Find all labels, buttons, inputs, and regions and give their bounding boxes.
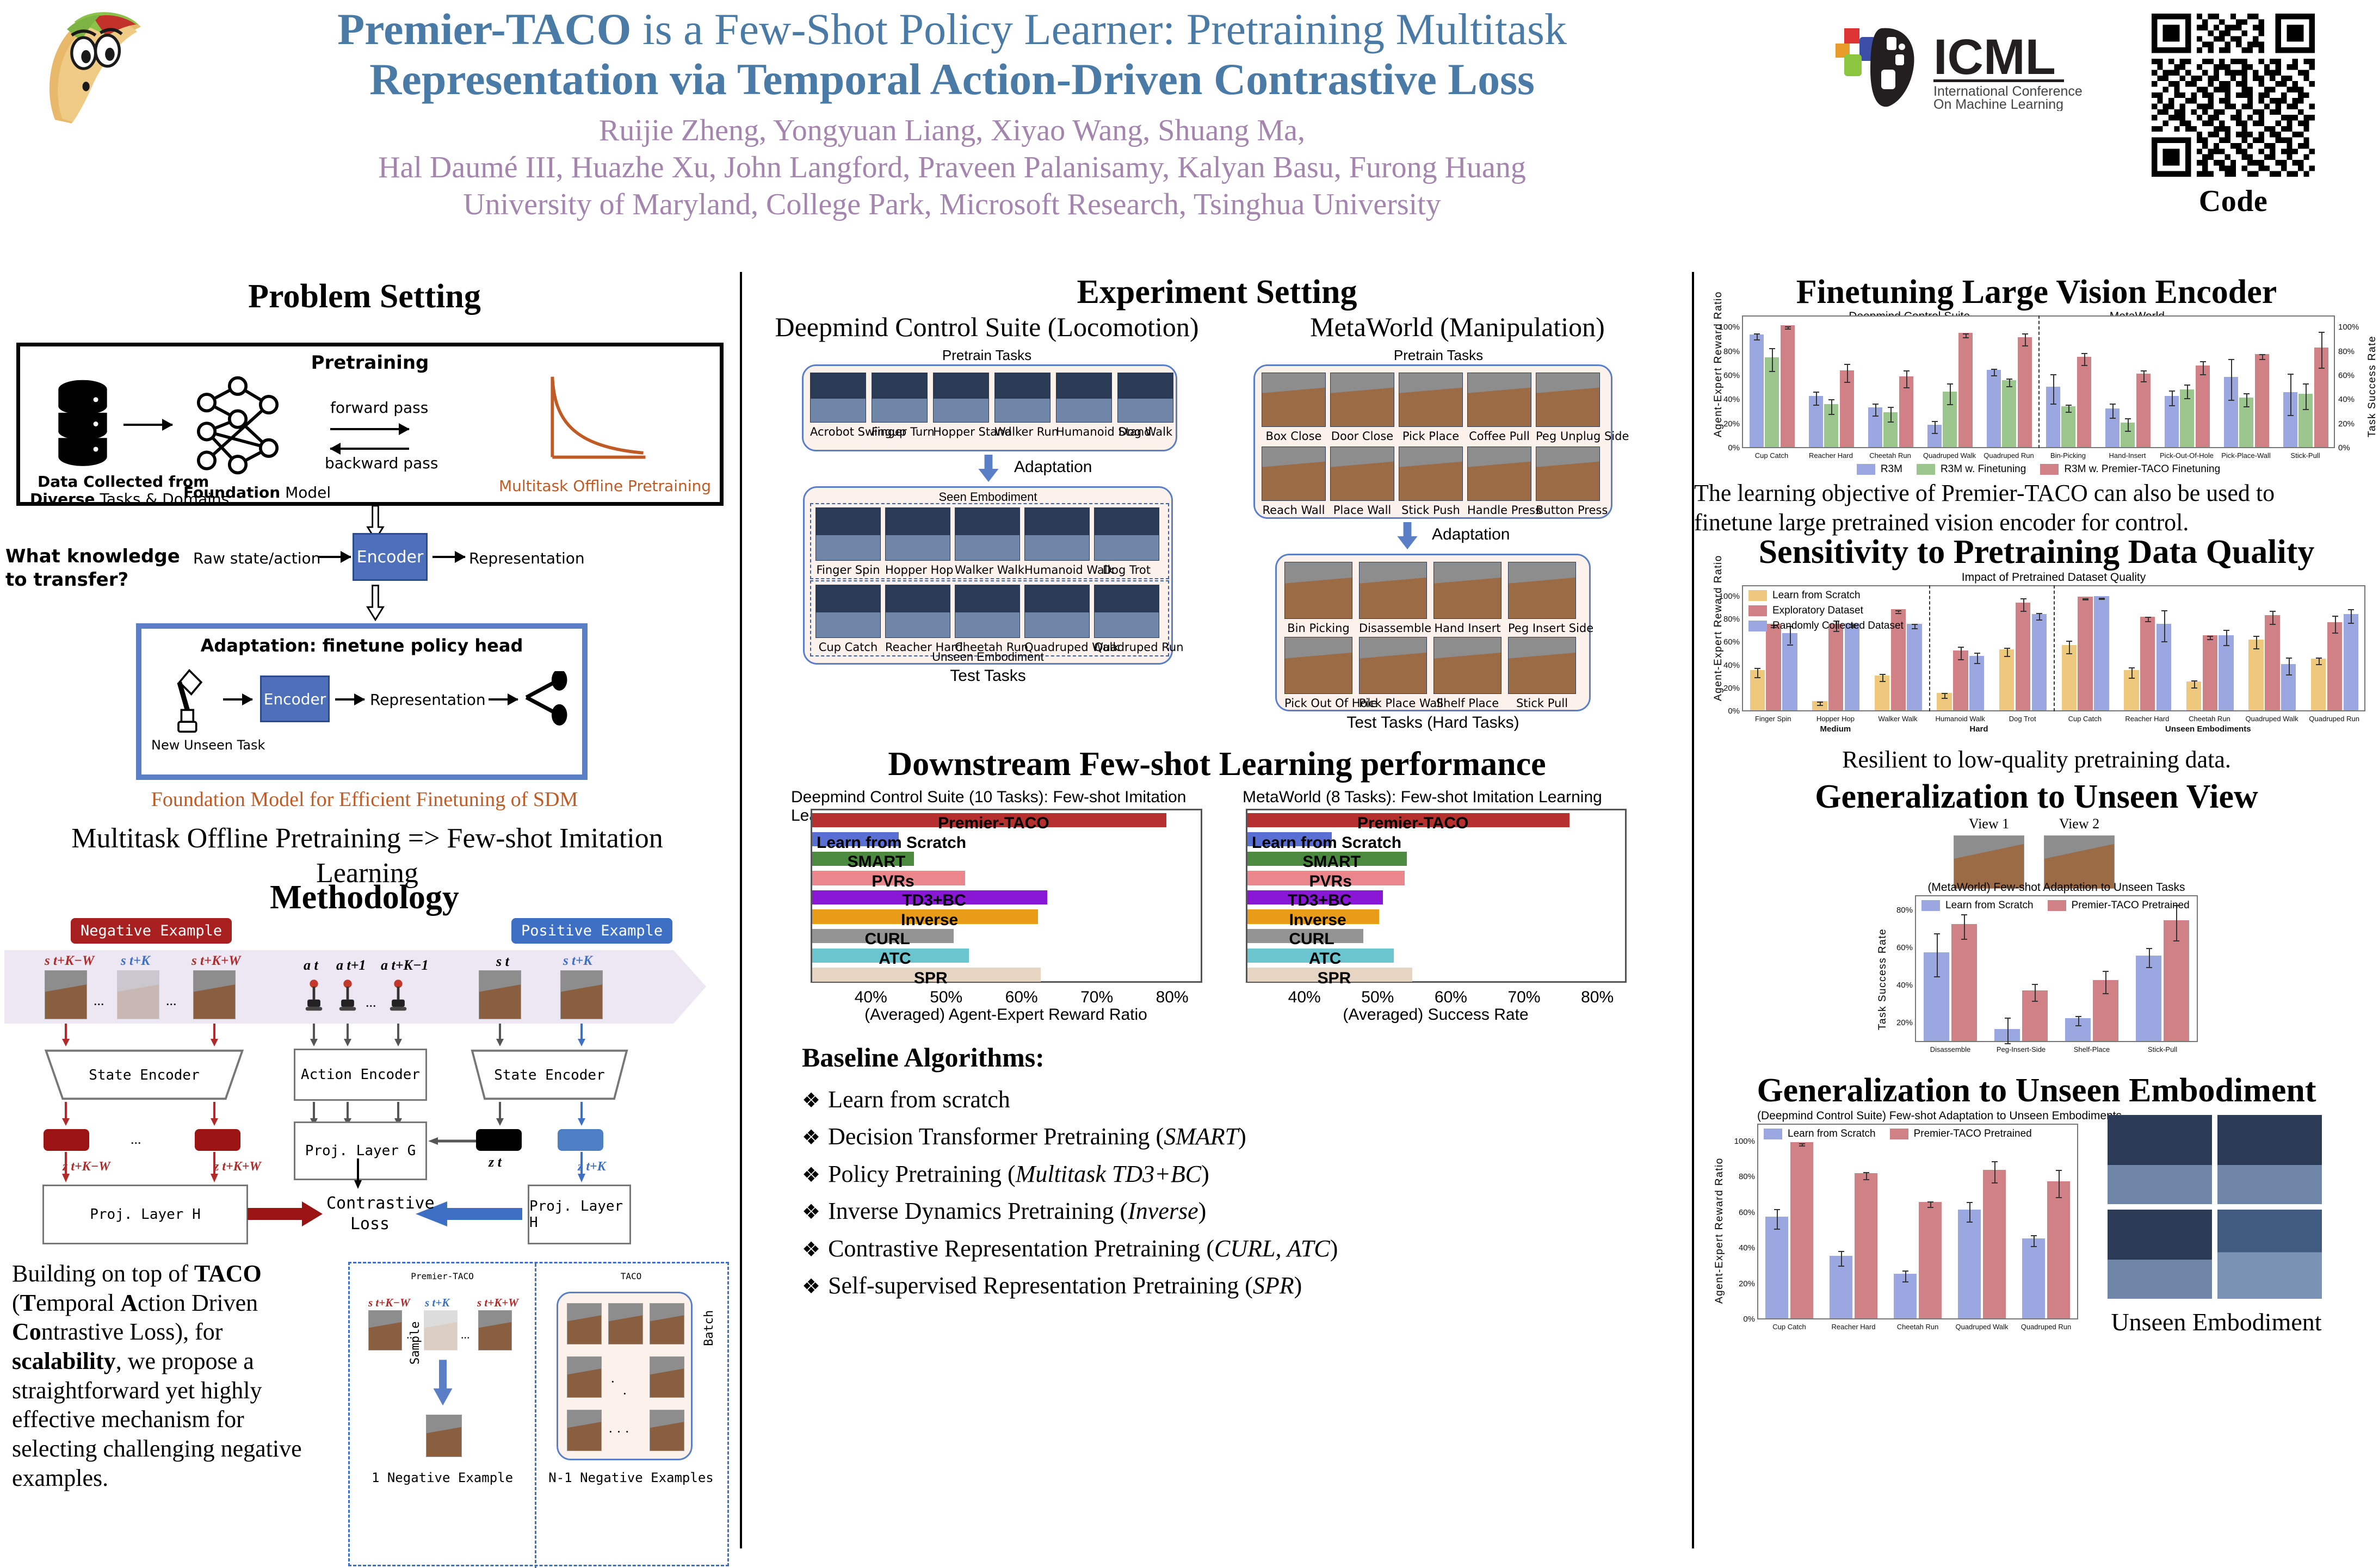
error-bar-cap bbox=[2004, 656, 2010, 657]
error-bar-cap bbox=[2129, 667, 2135, 668]
foundation-model-note: Foundation Model for Efficient Finetunin… bbox=[0, 788, 729, 811]
error-bar bbox=[1890, 407, 1892, 422]
task-tile-label: Acrobot Swingup bbox=[810, 425, 866, 438]
legend-swatch bbox=[2048, 900, 2066, 911]
bar bbox=[2022, 1238, 2045, 1318]
bar bbox=[2203, 635, 2217, 710]
baseline-list-item: ❖Contrastive Representation Pretraining … bbox=[802, 1232, 1672, 1266]
bar bbox=[1907, 624, 1921, 710]
error-bar-cap bbox=[1947, 404, 1953, 405]
chart-legend: Learn from ScratchExploratory DatasetRan… bbox=[1748, 590, 1904, 632]
bar-label: ATC bbox=[1252, 950, 1398, 968]
error-bar-cap bbox=[1958, 647, 1964, 648]
representation-label-bottom: Representation bbox=[370, 691, 486, 709]
error-bar bbox=[2023, 598, 2024, 611]
error-bar bbox=[1847, 364, 1848, 382]
legend-swatch bbox=[1748, 605, 1767, 616]
task-tile: Disassemble bbox=[1359, 562, 1427, 635]
x-axis-tick: Cup Catch bbox=[1742, 451, 1801, 460]
task-thumbnail bbox=[1399, 447, 1463, 501]
bar bbox=[2032, 614, 2047, 710]
bar bbox=[2018, 337, 2032, 447]
sampled-negative-thumb bbox=[426, 1415, 462, 1457]
unseen-embodiment-label: Unseen Embodiment bbox=[805, 650, 1171, 664]
mw-adaptation-arrow bbox=[1395, 522, 1420, 550]
task-tile-label: Hopper Stand bbox=[933, 425, 989, 438]
error-bar-cap bbox=[2020, 611, 2026, 612]
y-axis-tick: 60% bbox=[1732, 1208, 1755, 1217]
error-bar-cap bbox=[1912, 628, 1918, 629]
error-bar-cap bbox=[2125, 431, 2131, 432]
task-thumbnail bbox=[810, 373, 866, 423]
poster-header: Premier-TACO is a Few-Shot Policy Learne… bbox=[0, 0, 2379, 272]
baseline-algorithms-block: Baseline Algorithms: ❖Learn from scratch… bbox=[802, 1042, 1672, 1306]
task-thumbnail bbox=[1467, 373, 1531, 427]
error-bar-cap bbox=[1838, 1251, 1844, 1252]
task-tile-label: Pick Out Of Hole bbox=[1284, 697, 1352, 710]
compare-divider bbox=[535, 1263, 536, 1568]
task-tile-label: Place Wall bbox=[1330, 504, 1394, 517]
method-comparison-panel: Premier-TACO TACO s t+K−W ... s t+K ... … bbox=[348, 1262, 729, 1566]
diamond-bullet-icon: ❖ bbox=[802, 1126, 820, 1149]
bar bbox=[1919, 1202, 1942, 1318]
error-bar-cap bbox=[1904, 387, 1910, 388]
task-thumbnail bbox=[1433, 562, 1501, 619]
legend-label: R3M bbox=[1881, 463, 1902, 475]
error-bar-cap bbox=[1828, 399, 1834, 400]
bar-label: SMART bbox=[817, 853, 936, 871]
task-to-encoder-arrow bbox=[223, 698, 252, 701]
error-bar-cap bbox=[1817, 705, 1823, 706]
task-tile: Pick Out Of Hole bbox=[1284, 637, 1352, 710]
task-tile: Door Close bbox=[1330, 373, 1394, 443]
task-tile: Handle Press bbox=[1467, 447, 1531, 517]
error-bar-cap bbox=[2081, 353, 2087, 354]
error-bar-cap bbox=[1799, 1145, 1805, 1146]
error-bar bbox=[2059, 1170, 2060, 1197]
legend-swatch bbox=[1764, 1129, 1782, 1139]
x-axis-tick: Dog Trot bbox=[1991, 715, 2054, 723]
action-label-tk1: a t+K−1 bbox=[381, 957, 429, 974]
negative-example-tag: Negative Example bbox=[71, 918, 232, 944]
x-axis-tick: Pick-Place-Wall bbox=[2216, 451, 2276, 460]
y-axis-tick: 40% bbox=[1890, 981, 1913, 990]
bar-label: Premier-TACO bbox=[817, 814, 1171, 833]
x-axis-tick: Quadruped Walk bbox=[1920, 451, 1979, 460]
x-axis-tick: 40% bbox=[1284, 988, 1325, 1007]
x-axis-tick: 50% bbox=[1357, 988, 1398, 1007]
error-bar bbox=[2053, 374, 2054, 403]
bar bbox=[2327, 622, 2342, 710]
dataset-quality-chart: Impact of Pretrained Dataset Quality0%20… bbox=[1704, 571, 2373, 740]
legend-item: Learn from Scratch bbox=[1748, 590, 1904, 602]
batch-thumb-5 bbox=[650, 1356, 684, 1398]
error-bar-cap bbox=[2110, 418, 2116, 419]
error-bar bbox=[1977, 653, 1978, 663]
x-axis-tick: Shelf-Place bbox=[2056, 1045, 2127, 1053]
bar-label: TD3+BC bbox=[1252, 891, 1387, 910]
error-bar-cap bbox=[2173, 940, 2179, 941]
error-bar-cap bbox=[2286, 658, 2292, 659]
x-axis-tick: Reacher Hard bbox=[2116, 715, 2179, 723]
error-bar bbox=[2143, 370, 2145, 381]
paragraph-bold-span: scalability bbox=[12, 1348, 116, 1374]
z-chip-neg-left bbox=[44, 1129, 89, 1151]
foundation-model-rest: Model bbox=[280, 484, 331, 501]
task-tile-label: Pick Place Wall bbox=[1359, 697, 1427, 710]
bar bbox=[1845, 623, 1859, 710]
encoder-to-representation-arrow bbox=[432, 556, 465, 558]
y-axis-tick: 100% bbox=[1732, 1137, 1755, 1146]
dmc-fewshot-plot-area: Premier-TACOLearn from ScratchSMARTPVRsT… bbox=[811, 809, 1202, 983]
state-encoder-right-label: State Encoder bbox=[465, 1067, 634, 1083]
task-thumbnail bbox=[1536, 373, 1600, 427]
error-bar-cap bbox=[2288, 415, 2294, 416]
x-axis-tick: Hopper Hop bbox=[1805, 715, 1867, 723]
task-tile: Acrobot Swingup bbox=[810, 373, 866, 438]
error-bar-cap bbox=[2099, 599, 2105, 600]
error-bar-cap bbox=[2056, 1197, 2062, 1198]
legend-item: Randomly Collected Dataset bbox=[1748, 620, 1904, 632]
error-bar bbox=[2128, 418, 2129, 430]
legend-item: Learn from Scratch bbox=[1764, 1128, 1876, 1140]
bar bbox=[1790, 1142, 1813, 1318]
x-axis-tick: Cup Catch bbox=[2054, 715, 2116, 723]
sample-label: Sample bbox=[409, 1322, 422, 1365]
task-tile-label: Hopper Hop bbox=[885, 563, 950, 577]
error-bar-cap bbox=[1813, 405, 1819, 406]
error-bar-cap bbox=[2348, 609, 2354, 610]
legend-item: Premier-TACO Pretrained bbox=[2048, 900, 2190, 912]
task-thumbnail bbox=[1467, 447, 1531, 501]
diamond-bullet-icon: ❖ bbox=[802, 1201, 820, 1224]
task-thumbnail bbox=[1330, 373, 1394, 427]
error-bar-cap bbox=[2022, 333, 2028, 334]
dmc-seen-tiles: Finger SpinHopper HopWalker WalkHumanoid… bbox=[815, 507, 1159, 577]
finetune-vision-title: Finetuning Large Vision Encoder bbox=[1694, 273, 2379, 312]
title-rest-part: is a Few-Shot Policy Learner: Pretrainin… bbox=[631, 4, 1566, 54]
authors-line-2: Hal Daumé III, Huazhe Xu, John Langford,… bbox=[163, 149, 1741, 186]
error-bar-cap bbox=[1769, 371, 1775, 372]
forward-pass-label: forward pass bbox=[330, 399, 428, 417]
bar bbox=[1828, 624, 1843, 710]
task-tile-label: Dog Walk bbox=[1117, 425, 1173, 438]
task-tile-label: Stick Push bbox=[1399, 504, 1463, 517]
legend-item: Exploratory Dataset bbox=[1748, 605, 1904, 617]
bar-label: PVRs bbox=[1252, 872, 1409, 891]
chart-legend: Learn from ScratchPremier-TACO Pretraine… bbox=[1764, 1128, 2032, 1140]
x-axis-tick: Bin-Picking bbox=[2038, 451, 2098, 460]
legend-label: Randomly Collected Dataset bbox=[1772, 620, 1904, 632]
error-bar-cap bbox=[1774, 1229, 1780, 1230]
error-bar-cap bbox=[2161, 610, 2167, 611]
dmc-fewshot-xlabel: (Averaged) Agent-Expert Reward Ratio bbox=[807, 1006, 1204, 1024]
x-axis-tick: 60% bbox=[1001, 988, 1042, 1007]
task-tile: Reacher Hard bbox=[885, 585, 950, 654]
task-thumbnail bbox=[815, 585, 881, 638]
error-bar-cap bbox=[1769, 348, 1775, 349]
task-tile: Pick Place Wall bbox=[1359, 637, 1427, 710]
ellipsis-2: ... bbox=[166, 993, 177, 1009]
bar-label: SMART bbox=[1252, 853, 1411, 871]
view-thumbnails: View 1 View 2 bbox=[1944, 816, 2124, 889]
error-bar bbox=[1994, 1161, 1995, 1182]
unseen-embodiment-thumbs: Unseen Embodiment bbox=[2108, 1115, 2325, 1336]
error-bar-cap bbox=[2270, 624, 2276, 625]
methodology-paragraph: Building on top of TACO (Temporal Action… bbox=[12, 1259, 328, 1492]
metaworld-title: MetaWorld (Manipulation) bbox=[1226, 311, 1689, 343]
baseline-list-item: ❖Self-supervised Representation Pretrain… bbox=[802, 1269, 1672, 1303]
y-axis-label-right: Task Success Rate bbox=[2366, 336, 2378, 437]
plot-area bbox=[1915, 895, 2198, 1042]
finetune-note-line1: The learning objective of Premier-TACO c… bbox=[1694, 479, 2379, 508]
bar bbox=[2196, 365, 2210, 447]
chart-title: (MetaWorld) Few-shot Adaptation to Unsee… bbox=[1915, 881, 2198, 894]
y-axis-tick: 20% bbox=[1890, 1018, 1913, 1027]
baseline-label: Self-supervised Representation Pretraini… bbox=[828, 1272, 1302, 1299]
bar bbox=[1983, 1170, 2006, 1318]
error-bar-cap bbox=[2075, 1016, 2081, 1017]
error-bar-cap bbox=[2184, 398, 2190, 399]
error-bar-cap bbox=[2184, 385, 2190, 386]
legend-swatch bbox=[1748, 621, 1767, 631]
sensitivity-note: Resilient to low-quality pretraining dat… bbox=[1694, 745, 2379, 774]
error-bar-cap bbox=[2066, 641, 2072, 642]
bar bbox=[2140, 617, 2155, 710]
task-tile: Quadruped Walk bbox=[1024, 585, 1090, 654]
task-tile-label: Box Close bbox=[1262, 430, 1326, 443]
legend-label: Learn from Scratch bbox=[1945, 900, 2034, 912]
task-tile: Finger Turn bbox=[872, 373, 928, 438]
database-icon bbox=[53, 379, 113, 469]
problem-setting-title: Problem Setting bbox=[0, 277, 729, 316]
loss-curve-icon bbox=[542, 373, 651, 468]
baseline-list-item: ❖Policy Pretraining (Multitask TD3+BC) bbox=[802, 1157, 1672, 1191]
y-axis-tick: 40% bbox=[1732, 1243, 1755, 1253]
bar bbox=[1855, 1173, 1877, 1318]
error-bar-cap bbox=[2032, 1001, 2038, 1002]
encoder-box-bottom[interactable]: Encoder bbox=[260, 675, 330, 722]
task-thumbnail bbox=[955, 585, 1020, 638]
bar bbox=[2016, 603, 2030, 710]
x-axis-tick: Cheetah Run bbox=[2178, 715, 2241, 723]
robot-arm-icon bbox=[168, 666, 211, 736]
task-tile-label: Humanoid Stand bbox=[1056, 425, 1112, 438]
sensitivity-title: Sensitivity to Pretraining Data Quality bbox=[1694, 533, 2379, 572]
authors-line-1: Ruijie Zheng, Yongyuan Liang, Xiyao Wang… bbox=[163, 112, 1741, 149]
compare-s-neg-right: s t+K+W bbox=[477, 1296, 518, 1310]
x-axis-tick: 40% bbox=[850, 988, 892, 1007]
error-bar-cap bbox=[2253, 648, 2259, 649]
y-axis-tick-right: 20% bbox=[2338, 419, 2361, 429]
mw-fewshot-chart-title: MetaWorld (8 Tasks): Few-shot Imitation … bbox=[1243, 788, 1602, 807]
dmc-pretrain-tiles: Acrobot SwingupFinger TurnHopper StandWa… bbox=[810, 373, 1173, 438]
state-thumb-neg-right bbox=[193, 970, 236, 1019]
projg-to-loss-arrow bbox=[353, 1158, 363, 1189]
error-bar-cap bbox=[2316, 658, 2322, 659]
paragraph-bold-span: A bbox=[120, 1290, 138, 1316]
y-axis-tick-right: 60% bbox=[2338, 371, 2361, 380]
question-line-1: What knowledge bbox=[5, 545, 180, 568]
compare-s-mid: s t+K bbox=[425, 1296, 449, 1310]
error-bar-cap bbox=[1754, 333, 1760, 334]
state-thumb-tk bbox=[560, 970, 603, 1019]
mw-pretrain-tasks-label: Pretrain Tasks bbox=[1253, 347, 1623, 364]
error-bar-cap bbox=[2288, 374, 2294, 375]
legend-swatch bbox=[1748, 590, 1767, 601]
y-axis-label: Agent-Expert Reward Ratio bbox=[1714, 1157, 1726, 1304]
task-tile: Reach Wall bbox=[1262, 447, 1326, 517]
error-bar-cap bbox=[2022, 345, 2028, 346]
y-axis-tick: 0% bbox=[1717, 706, 1740, 716]
y-axis-tick: 20% bbox=[1732, 1279, 1755, 1288]
flow-arrow-down-2 bbox=[366, 585, 385, 622]
task-thumbnail bbox=[1094, 507, 1159, 561]
poster-title-line-1: Premier-TACO is a Few-Shot Policy Learne… bbox=[163, 4, 1741, 54]
task-thumbnail bbox=[885, 585, 950, 638]
dmc-fewshot-chart: Deepmind Control Suite (10 Tasks): Few-s… bbox=[791, 791, 1221, 1025]
negative-example-tag-wrap: Negative Example bbox=[71, 918, 232, 944]
error-bar bbox=[2084, 353, 2085, 365]
x-axis-tick: Disassemble bbox=[1915, 1045, 1986, 1053]
bar-label: Learn from Scratch bbox=[817, 834, 936, 852]
error-bar-cap bbox=[2259, 359, 2265, 360]
legend-label: R3M w. Finetuning bbox=[1941, 463, 2026, 475]
error-bar-cap bbox=[1774, 1209, 1780, 1210]
task-tile-label: Humanoid Walk bbox=[1024, 563, 1090, 577]
backward-pass-label: backward pass bbox=[325, 454, 438, 472]
task-tile-label: Hand Insert bbox=[1433, 622, 1501, 635]
positive-example-tag: Positive Example bbox=[511, 918, 672, 944]
error-bar bbox=[2203, 361, 2204, 374]
title-bold-part: Premier-TACO bbox=[337, 4, 631, 54]
y-axis-tick-right: 80% bbox=[2338, 347, 2361, 356]
compare-ellipsis-2: ... bbox=[461, 1328, 470, 1342]
error-bar-cap bbox=[2036, 619, 2042, 621]
error-bar-cap bbox=[2228, 400, 2234, 401]
task-thumbnail bbox=[1359, 562, 1427, 619]
qr-code-caption: Code bbox=[2152, 184, 2315, 219]
error-bar bbox=[2226, 630, 2227, 644]
x-axis-tick: 50% bbox=[925, 988, 967, 1007]
error-bar-cap bbox=[2032, 984, 2038, 985]
bar-label: Premier-TACO bbox=[1252, 814, 1574, 833]
encoder-box-top[interactable]: Encoder bbox=[353, 533, 428, 581]
bar-label: Learn from Scratch bbox=[1252, 834, 1371, 852]
error-bar-cap bbox=[1904, 370, 1910, 371]
error-bar-cap bbox=[1947, 383, 1953, 385]
baseline-label: Learn from scratch bbox=[828, 1086, 1010, 1113]
methodology-title: Methodology bbox=[0, 878, 729, 917]
error-bar-cap bbox=[1961, 939, 1967, 940]
state-label-t: s t bbox=[496, 953, 509, 970]
x-axis-tick: Peg-Insert-Side bbox=[1986, 1045, 2056, 1053]
bar-label: Inverse bbox=[1252, 911, 1383, 929]
question-line-2: to transfer? bbox=[5, 568, 180, 592]
error-bar-cap bbox=[1817, 702, 1823, 703]
error-bar-cap bbox=[2005, 1018, 2011, 1019]
bar bbox=[2344, 614, 2358, 710]
error-bar-cap bbox=[2020, 598, 2026, 599]
error-bar bbox=[1841, 1251, 1842, 1265]
x-axis-tick: 70% bbox=[1076, 988, 1117, 1007]
paragraph-bold-span: TACO bbox=[194, 1260, 262, 1287]
diamond-bullet-icon: ❖ bbox=[802, 1089, 820, 1112]
error-bar-cap bbox=[2303, 383, 2309, 385]
error-bar-cap bbox=[1961, 914, 1967, 915]
dmc-pretrain-card: Acrobot SwingupFinger TurnHopper StandWa… bbox=[802, 364, 1177, 451]
data-to-model-arrow bbox=[123, 424, 172, 426]
bar bbox=[2219, 635, 2233, 710]
task-thumbnail bbox=[1117, 373, 1173, 423]
x-axis-tick: Quadruped Walk bbox=[1950, 1323, 2014, 1331]
task-tile: Hopper Stand bbox=[933, 373, 989, 438]
baseline-label: Inverse Dynamics Pretraining (Inverse) bbox=[828, 1198, 1206, 1224]
task-tile-label: Bin Picking bbox=[1284, 622, 1352, 635]
error-bar-cap bbox=[2050, 374, 2056, 375]
task-thumbnail bbox=[994, 373, 1051, 423]
error-bar-cap bbox=[1799, 1143, 1805, 1144]
error-bar-cap bbox=[2169, 405, 2175, 406]
task-thumbnail bbox=[1024, 507, 1090, 561]
error-bar-cap bbox=[2228, 359, 2234, 360]
task-thumbnail bbox=[1536, 447, 1600, 501]
error-bar bbox=[1831, 399, 1832, 414]
error-bar-cap bbox=[2270, 611, 2276, 612]
ellipsis-4: ... bbox=[131, 1131, 141, 1148]
mw-pretrain-row-1: Box CloseDoor ClosePick PlaceCoffee Pull… bbox=[1262, 373, 1600, 443]
error-bar bbox=[1969, 1202, 1970, 1222]
task-tile: Finger Spin bbox=[815, 507, 881, 577]
error-bar-cap bbox=[2253, 636, 2259, 637]
baseline-label: Policy Pretraining (Multitask TD3+BC) bbox=[828, 1161, 1209, 1187]
legend-item: Premier-TACO Pretrained bbox=[1890, 1128, 2032, 1140]
baseline-label: Decision Transformer Pretraining (SMART) bbox=[828, 1123, 1246, 1150]
paragraph-bold-span: T bbox=[20, 1290, 36, 1316]
task-thumbnail bbox=[1284, 637, 1352, 694]
x-axis-tick: Quadruped Walk bbox=[2241, 715, 2303, 723]
qr-code-image[interactable] bbox=[2152, 14, 2315, 177]
compare-s-neg-left: s t+K−W bbox=[368, 1296, 410, 1310]
bar bbox=[2094, 596, 2109, 710]
error-bar-cap bbox=[2036, 613, 2042, 614]
error-bar bbox=[2321, 332, 2322, 368]
error-bar bbox=[2069, 641, 2070, 653]
dmc-adaptation-arrow bbox=[976, 455, 1001, 483]
action-label-t: a t bbox=[304, 957, 318, 974]
poster-title-line-2: Representation via Temporal Action-Drive… bbox=[163, 54, 1741, 104]
mw-pretrain-row-2: Reach WallPlace WallStick PushHandle Pre… bbox=[1262, 447, 1600, 517]
paragraph-span: emporal bbox=[36, 1290, 120, 1316]
batch-thumb-1 bbox=[567, 1303, 602, 1344]
error-bar-cap bbox=[2031, 1235, 2037, 1236]
bar-label: TD3+BC bbox=[817, 891, 1052, 910]
error-bar-cap bbox=[1754, 668, 1760, 669]
bar bbox=[2136, 374, 2151, 447]
error-bar bbox=[2231, 359, 2232, 400]
x-axis-tick: 80% bbox=[1152, 988, 1193, 1007]
z-chip-tk bbox=[558, 1129, 603, 1151]
group-label: Medium bbox=[1797, 724, 1874, 734]
baseline-label: Contrastive Representation Pretraining (… bbox=[828, 1235, 1338, 1262]
legend-item: Learn from Scratch bbox=[1921, 900, 2034, 912]
legend-label: Premier-TACO Pretrained bbox=[1914, 1128, 2032, 1140]
batch-dots-2: · bbox=[622, 1386, 627, 1402]
qr-code-block: Code bbox=[2152, 14, 2315, 219]
error-bar-cap bbox=[2066, 405, 2072, 406]
backward-pass-arrow bbox=[330, 448, 409, 450]
error-bar-cap bbox=[1785, 329, 1791, 330]
